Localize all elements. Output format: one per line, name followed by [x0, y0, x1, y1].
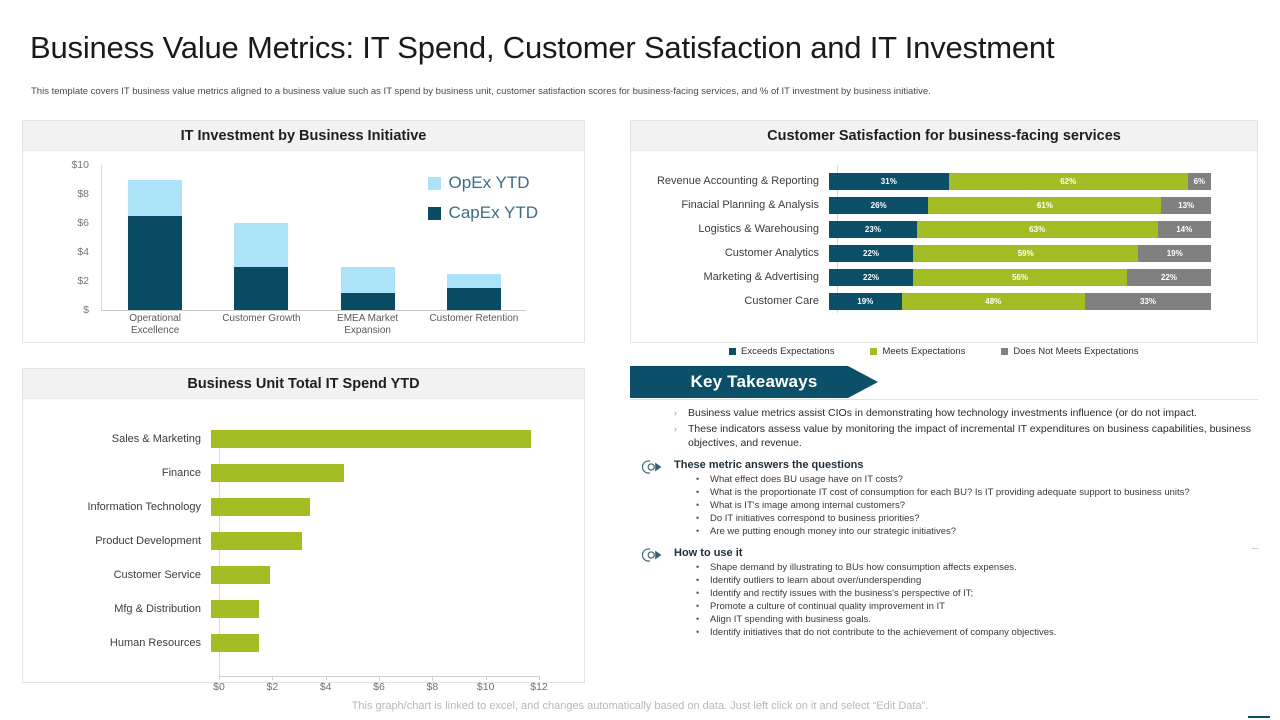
spend-row: Product Development	[23, 527, 584, 555]
bar-segment-exceeds[interactable]: 31%	[829, 173, 949, 190]
panel-it-investment: IT Investment by Business Initiative $$2…	[22, 120, 585, 343]
y-axis-tick-label: $	[83, 304, 89, 316]
satisfaction-category-label: Logistics & Warehousing	[631, 223, 829, 235]
bullet-dot-icon: •	[696, 613, 710, 626]
bar-segment-exceeds[interactable]: 22%	[829, 245, 913, 262]
y-axis-tick-label: $10	[71, 159, 89, 171]
spend-category-label: Human Resources	[23, 637, 211, 649]
legend-item[interactable]: Exceeds Expectations	[729, 346, 834, 357]
satisfaction-row: Logistics & Warehousing23%63%14%	[631, 219, 1257, 239]
satisfaction-row: Customer Care19%48%33%	[631, 291, 1257, 311]
slide-canvas: Business Value Metrics: IT Spend, Custom…	[0, 0, 1280, 720]
legend-label: Meets Expectations	[882, 346, 965, 357]
takeaways-lead-text: These indicators assess value by monitor…	[688, 422, 1258, 450]
x-axis-tick-label: $0	[213, 681, 225, 693]
key-takeaways-content: ›Business value metrics assist CIOs in d…	[630, 406, 1258, 639]
bar-value-label: 22%	[863, 249, 879, 258]
y-axis-tick-label: $8	[77, 188, 89, 200]
bullet-dot-icon: •	[696, 561, 710, 574]
satisfaction-bar-stack[interactable]: 22%56%22%	[829, 269, 1211, 286]
bottom-accent-rule	[1248, 716, 1270, 718]
takeaways-bullet-text: Identify and rectify issues with the bus…	[710, 587, 973, 600]
bar-value-label: 22%	[1161, 273, 1177, 282]
legend-item[interactable]: CapEx YTD	[428, 203, 538, 223]
edge-marker	[1252, 548, 1258, 549]
x-axis-tick-label: $2	[266, 681, 278, 693]
takeaways-bullet-text: What effect does BU usage have on IT cos…	[710, 473, 903, 486]
panel-customer-satisfaction: Customer Satisfaction for business-facin…	[630, 120, 1258, 343]
spend-bar-track	[211, 464, 531, 482]
bar-value-label: 48%	[985, 297, 1001, 306]
takeaways-lead-list: ›Business value metrics assist CIOs in d…	[674, 406, 1258, 450]
spend-bar[interactable]	[211, 532, 302, 550]
bar-segment-meets[interactable]: 63%	[917, 221, 1158, 238]
satisfaction-bar-stack[interactable]: 19%48%33%	[829, 293, 1211, 310]
bullet-dot-icon: •	[696, 600, 710, 613]
satisfaction-category-label: Customer Care	[631, 295, 829, 307]
spend-row: Information Technology	[23, 493, 584, 521]
bar-segment-meets[interactable]: 62%	[949, 173, 1188, 190]
legend-label: CapEx YTD	[449, 203, 538, 223]
takeaways-bullet: •Shape demand by illustrating to BUs how…	[696, 561, 1258, 574]
bar-value-label: 61%	[1037, 201, 1053, 210]
bullet-dot-icon: •	[696, 626, 710, 639]
x-axis-tick-label: $6	[373, 681, 385, 693]
panel-title-customer-satisfaction: Customer Satisfaction for business-facin…	[767, 128, 1121, 144]
takeaways-section: These metric answers the questions•What …	[630, 459, 1258, 538]
y-axis-tick-label: $2	[77, 275, 89, 287]
bar-segment-does-not-meet[interactable]: 33%	[1085, 293, 1211, 310]
spend-bar[interactable]	[211, 634, 259, 652]
spend-bar-track	[211, 430, 531, 448]
bar-segment-exceeds[interactable]: 23%	[829, 221, 917, 238]
satisfaction-bar-stack[interactable]: 23%63%14%	[829, 221, 1211, 238]
takeaways-bullet-text: Identify initiatives that do not contrib…	[710, 626, 1056, 639]
legend-item[interactable]: Meets Expectations	[870, 346, 965, 357]
spend-bar[interactable]	[211, 600, 259, 618]
panel-header-customer-satisfaction: Customer Satisfaction for business-facin…	[631, 121, 1257, 151]
takeaways-bullet: •Do IT initiatives correspond to busines…	[696, 512, 1258, 525]
bar-value-label: 26%	[871, 201, 887, 210]
legend-swatch-icon	[870, 348, 877, 355]
legend-swatch-icon	[1001, 348, 1008, 355]
column-segment-opex[interactable]	[341, 267, 395, 293]
panel-business-unit-spend: Business Unit Total IT Spend YTD Sales &…	[22, 368, 585, 683]
footer-note: This graph/chart is linked to excel, and…	[0, 700, 1280, 712]
takeaways-bullet-text: Identify outliers to learn about over/un…	[710, 574, 921, 587]
spend-row: Human Resources	[23, 629, 584, 657]
spend-bar-track	[211, 498, 531, 516]
key-takeaways-banner: Key Takeaways	[630, 366, 878, 398]
x-axis-tick-mark	[432, 676, 433, 680]
legend-label: Does Not Meets Expectations	[1013, 346, 1138, 357]
bar-value-label: 19%	[1167, 249, 1183, 258]
chart-x-axis-line	[101, 310, 526, 311]
takeaways-section-title: These metric answers the questions	[674, 459, 1258, 471]
panel-body-business-unit-spend: Sales & MarketingFinanceInformation Tech…	[23, 399, 584, 683]
chevron-right-icon: ›	[674, 406, 688, 420]
panel-body-it-investment: $$2$4$6$8$10 OpEx YTDCapEx YTD Operation…	[23, 151, 584, 343]
takeaways-bullet: •Identify initiatives that do not contri…	[696, 626, 1258, 639]
chart-business-unit-spend[interactable]: Sales & MarketingFinanceInformation Tech…	[23, 399, 584, 683]
column-stack[interactable]	[341, 267, 395, 311]
satisfaction-row: Customer Analytics22%59%19%	[631, 243, 1257, 263]
satisfaction-row: Finacial Planning & Analysis26%61%13%	[631, 195, 1257, 215]
spend-category-label: Mfg & Distribution	[23, 603, 211, 615]
column-stack[interactable]	[128, 180, 182, 311]
takeaways-bullet: •Identify and rectify issues with the bu…	[696, 587, 1258, 600]
takeaways-section-title: How to use it	[674, 547, 1258, 559]
satisfaction-category-label: Marketing & Advertising	[631, 271, 829, 283]
panel-title-it-investment: IT Investment by Business Initiative	[181, 128, 427, 144]
x-axis-tick-mark	[486, 676, 487, 680]
bullet-dot-icon: •	[696, 574, 710, 587]
panel-header-business-unit-spend: Business Unit Total IT Spend YTD	[23, 369, 584, 399]
chart-legend-satisfaction[interactable]: Exceeds ExpectationsMeets ExpectationsDo…	[729, 346, 1139, 357]
x-axis-category-label: OperationalExcellence	[102, 313, 208, 337]
legend-item[interactable]: OpEx YTD	[428, 173, 538, 193]
spend-category-label: Finance	[23, 467, 211, 479]
bar-segment-exceeds[interactable]: 26%	[829, 197, 928, 214]
bullet-dot-icon: •	[696, 512, 710, 525]
bar-segment-does-not-meet[interactable]: 6%	[1188, 173, 1211, 190]
chevron-right-icon: ›	[674, 422, 688, 450]
takeaways-section: How to use it•Shape demand by illustrati…	[630, 547, 1258, 639]
satisfaction-bar-stack[interactable]: 22%59%19%	[829, 245, 1211, 262]
column-segment-capex[interactable]	[447, 288, 501, 310]
page-title: Business Value Metrics: IT Spend, Custom…	[30, 30, 1250, 66]
bar-value-label: 13%	[1178, 201, 1194, 210]
legend-label: Exceeds Expectations	[741, 346, 834, 357]
satisfaction-bar-stack[interactable]: 31%62%6%	[829, 173, 1211, 190]
takeaways-lead-item: ›These indicators assess value by monito…	[674, 422, 1258, 450]
satisfaction-row: Revenue Accounting & Reporting31%62%6%	[631, 171, 1257, 191]
satisfaction-category-label: Customer Analytics	[631, 247, 829, 259]
column-stack[interactable]	[447, 274, 501, 310]
bullet-dot-icon: •	[696, 486, 710, 499]
x-axis-tick-mark	[219, 676, 220, 680]
x-axis-tick-label: $4	[320, 681, 332, 693]
key-takeaways-divider	[630, 399, 1258, 400]
bar-value-label: 22%	[863, 273, 879, 282]
bar-segment-does-not-meet[interactable]: 14%	[1158, 221, 1211, 238]
x-axis-category-label: Customer Growth	[208, 313, 314, 325]
spend-bar[interactable]	[211, 464, 344, 482]
chart-customer-satisfaction[interactable]: Exceeds ExpectationsMeets ExpectationsDo…	[631, 151, 1257, 343]
takeaways-bullet-text: What is IT's image among internal custom…	[710, 499, 905, 512]
satisfaction-category-label: Finacial Planning & Analysis	[631, 199, 829, 211]
column-segment-opex[interactable]	[447, 274, 501, 289]
bar-segment-meets[interactable]: 59%	[913, 245, 1138, 262]
takeaways-bullet-text: Do IT initiatives correspond to business…	[710, 512, 919, 525]
column-segment-opex[interactable]	[234, 223, 288, 267]
legend-item[interactable]: Does Not Meets Expectations	[1001, 346, 1138, 357]
spend-category-label: Information Technology	[23, 501, 211, 513]
x-axis-tick-label: $8	[426, 681, 438, 693]
bar-segment-does-not-meet[interactable]: 13%	[1161, 197, 1211, 214]
spend-bar[interactable]	[211, 566, 270, 584]
chart-y-axis: $$2$4$6$8$10	[23, 165, 95, 310]
takeaways-bullet: •What is IT's image among internal custo…	[696, 499, 1258, 512]
takeaways-lead-item: ›Business value metrics assist CIOs in d…	[674, 406, 1258, 420]
spend-row: Finance	[23, 459, 584, 487]
x-axis-tick-mark	[272, 676, 273, 680]
bullet-dot-icon: •	[696, 499, 710, 512]
x-axis-tick-mark	[379, 676, 380, 680]
spend-row: Customer Service	[23, 561, 584, 589]
bar-value-label: 62%	[1060, 177, 1076, 186]
spend-bar-track	[211, 634, 531, 652]
chart-legend[interactable]: OpEx YTDCapEx YTD	[428, 173, 538, 233]
column-segment-capex[interactable]	[234, 267, 288, 311]
bullet-dot-icon: •	[696, 525, 710, 538]
takeaways-bullet: •Promote a culture of continual quality …	[696, 600, 1258, 613]
bar-value-label: 33%	[1140, 297, 1156, 306]
bar-value-label: 23%	[865, 225, 881, 234]
satisfaction-bar-stack[interactable]: 26%61%13%	[829, 197, 1211, 214]
x-axis-category-label: Customer Retention	[421, 313, 527, 325]
y-axis-tick-label: $6	[77, 217, 89, 229]
bar-value-label: 56%	[1012, 273, 1028, 282]
circle-play-icon	[642, 460, 664, 474]
column-segment-capex[interactable]	[341, 293, 395, 310]
takeaways-bullet: •What effect does BU usage have on IT co…	[696, 473, 1258, 486]
spend-category-label: Customer Service	[23, 569, 211, 581]
takeaways-bullet: •Align IT spending with business goals.	[696, 613, 1258, 626]
takeaways-bullet-text: Align IT spending with business goals.	[710, 613, 871, 626]
legend-swatch-icon	[428, 207, 441, 220]
spend-bar[interactable]	[211, 430, 531, 448]
x-axis-tick-label: $12	[530, 681, 548, 693]
bar-segment-exceeds[interactable]: 19%	[829, 293, 902, 310]
satisfaction-category-label: Revenue Accounting & Reporting	[631, 175, 829, 187]
bar-segment-exceeds[interactable]: 22%	[829, 269, 913, 286]
column-segment-opex[interactable]	[128, 180, 182, 216]
column-segment-capex[interactable]	[128, 216, 182, 310]
x-axis-tick-mark	[539, 676, 540, 680]
bar-segment-meets[interactable]: 48%	[902, 293, 1085, 310]
spend-category-label: Product Development	[23, 535, 211, 547]
spend-category-label: Sales & Marketing	[23, 433, 211, 445]
panel-title-business-unit-spend: Business Unit Total IT Spend YTD	[187, 376, 419, 392]
takeaways-bullet: •What is the proportionate IT cost of co…	[696, 486, 1258, 499]
bar-value-label: 19%	[857, 297, 873, 306]
x-axis-category-label: EMEA MarketExpansion	[315, 313, 421, 337]
key-takeaways-banner-label: Key Takeaways	[690, 372, 817, 392]
bullet-dot-icon: •	[696, 473, 710, 486]
x-axis-tick-label: $10	[477, 681, 495, 693]
bar-value-label: 63%	[1029, 225, 1045, 234]
spend-row: Sales & Marketing	[23, 425, 584, 453]
legend-swatch-icon	[729, 348, 736, 355]
bar-value-label: 31%	[881, 177, 897, 186]
takeaways-bullet-text: Promote a culture of continual quality i…	[710, 600, 945, 613]
bar-segment-meets[interactable]: 61%	[928, 197, 1161, 214]
key-takeaways-panel: Key Takeaways ›Business value metrics as…	[630, 366, 1258, 683]
legend-label: OpEx YTD	[449, 173, 530, 193]
chart-it-investment[interactable]: $$2$4$6$8$10 OpEx YTDCapEx YTD Operation…	[23, 151, 584, 343]
bar-value-label: 59%	[1018, 249, 1034, 258]
y-axis-tick-label: $4	[77, 246, 89, 258]
bar-segment-meets[interactable]: 56%	[913, 269, 1127, 286]
bar-value-label: 14%	[1176, 225, 1192, 234]
bullet-dot-icon: •	[696, 587, 710, 600]
panel-header-it-investment: IT Investment by Business Initiative	[23, 121, 584, 151]
takeaways-bullet-text: Are we putting enough money into our str…	[710, 525, 956, 538]
column-stack[interactable]	[234, 223, 288, 310]
x-axis-tick-mark	[326, 676, 327, 680]
takeaways-bullet: •Are we putting enough money into our st…	[696, 525, 1258, 538]
spend-bar-track	[211, 532, 531, 550]
spend-row: Mfg & Distribution	[23, 595, 584, 623]
bar-segment-does-not-meet[interactable]: 22%	[1127, 269, 1211, 286]
bar-segment-does-not-meet[interactable]: 19%	[1138, 245, 1211, 262]
takeaways-bullet: •Identify outliers to learn about over/u…	[696, 574, 1258, 587]
takeaways-lead-text: Business value metrics assist CIOs in de…	[688, 406, 1197, 420]
circle-play-icon	[642, 548, 664, 562]
takeaways-bullet-text: What is the proportionate IT cost of con…	[710, 486, 1190, 499]
satisfaction-row: Marketing & Advertising22%56%22%	[631, 267, 1257, 287]
legend-swatch-icon	[428, 177, 441, 190]
takeaways-bullet-text: Shape demand by illustrating to BUs how …	[710, 561, 1017, 574]
panel-body-customer-satisfaction: Exceeds ExpectationsMeets ExpectationsDo…	[631, 151, 1257, 343]
spend-bar[interactable]	[211, 498, 310, 516]
spend-bar-track	[211, 600, 531, 618]
spend-bar-track	[211, 566, 531, 584]
page-subtitle: This template covers IT business value m…	[31, 85, 1211, 99]
bar-value-label: 6%	[1194, 177, 1206, 186]
